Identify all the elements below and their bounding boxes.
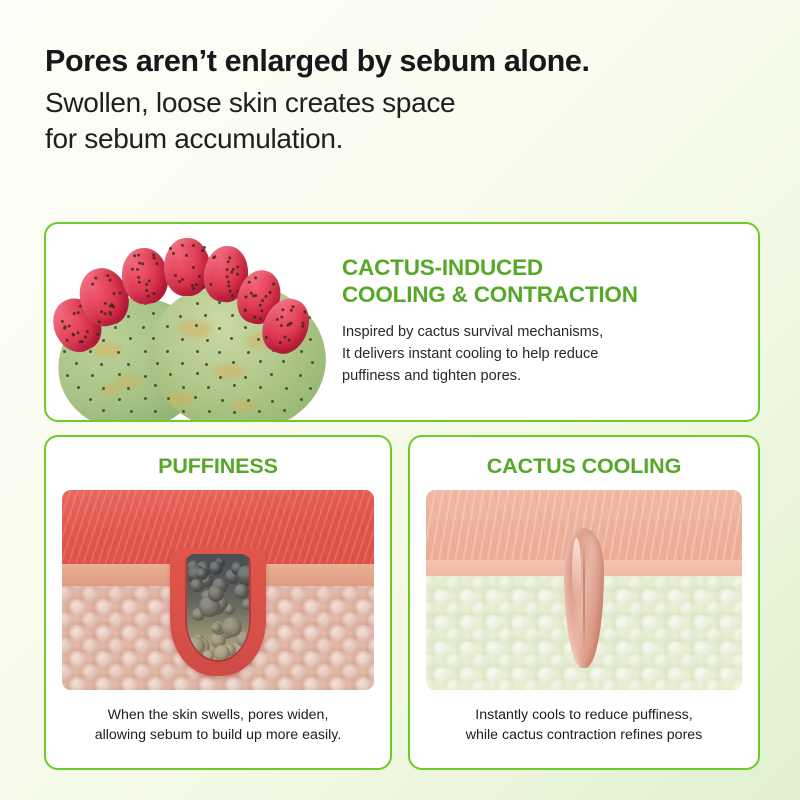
panel-puffiness-caption-line2: allowing sebum to build up more easily. xyxy=(56,725,380,745)
feature-kicker-line1: CACTUS-INDUCED xyxy=(342,254,752,281)
feature-body-line1: Inspired by cactus survival mechanisms, xyxy=(342,322,752,344)
sebum-plug xyxy=(187,554,249,660)
feature-kicker-line2: COOLING & CONTRACTION xyxy=(342,281,752,308)
feature-text-block: CACTUS-INDUCED COOLING & CONTRACTION Ins… xyxy=(342,254,752,388)
feature-body: Inspired by cactus survival mechanisms, … xyxy=(342,322,752,388)
headline-secondary-line2: for sebum accumulation. xyxy=(45,121,775,157)
feature-body-line3: puffiness and tighten pores. xyxy=(342,366,752,388)
feature-kicker: CACTUS-INDUCED COOLING & CONTRACTION xyxy=(342,254,752,308)
panel-cactus-cooling: CACTUS COOLING Instantly cools to reduce… xyxy=(408,435,760,770)
panel-cooling-caption-line1: Instantly cools to reduce puffiness, xyxy=(420,705,748,725)
panel-cooling-caption-line2: while cactus contraction refines pores xyxy=(420,725,748,745)
headline-primary: Pores aren’t enlarged by sebum alone. xyxy=(45,44,775,78)
cactus-image xyxy=(46,224,338,422)
panel-puffiness-image xyxy=(62,490,374,690)
headline-secondary: Swollen, loose skin creates space for se… xyxy=(45,85,775,157)
panel-cooling-title: CACTUS COOLING xyxy=(410,454,758,479)
panel-puffiness-caption-line1: When the skin swells, pores widen, xyxy=(56,705,380,725)
clogged-pore xyxy=(170,548,266,676)
feature-card: CACTUS-INDUCED COOLING & CONTRACTION Ins… xyxy=(44,222,760,422)
feature-body-line2: It delivers instant cooling to help redu… xyxy=(342,344,752,366)
headline-block: Pores aren’t enlarged by sebum alone. Sw… xyxy=(45,44,775,157)
panel-cooling-caption: Instantly cools to reduce puffiness, whi… xyxy=(420,705,748,745)
panel-puffiness: PUFFINESS When the skin swells, pores wi… xyxy=(44,435,392,770)
headline-secondary-line1: Swollen, loose skin creates space xyxy=(45,85,775,121)
panel-puffiness-caption: When the skin swells, pores widen, allow… xyxy=(56,705,380,745)
panel-puffiness-title: PUFFINESS xyxy=(46,454,390,479)
panel-cooling-image xyxy=(426,490,742,690)
infographic-page: Pores aren’t enlarged by sebum alone. Sw… xyxy=(0,0,800,800)
